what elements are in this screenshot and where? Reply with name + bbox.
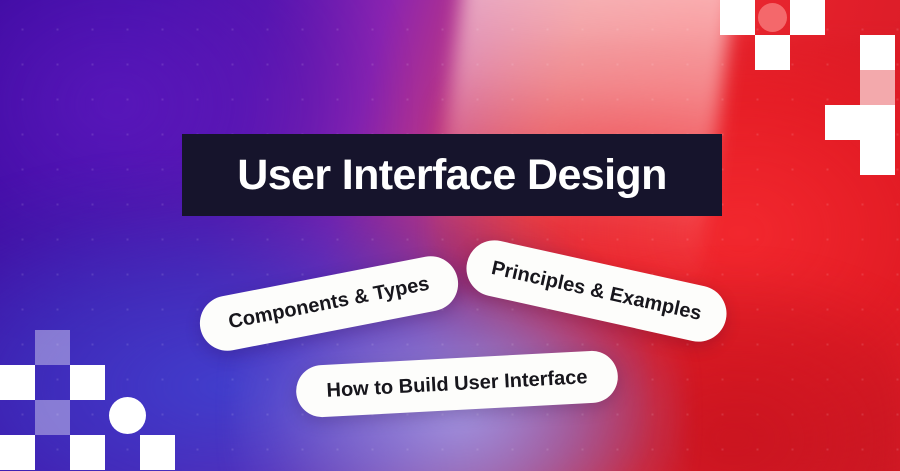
checker-cell	[70, 365, 105, 400]
red-circle-dot	[758, 3, 787, 32]
page-title: User Interface Design	[237, 154, 667, 197]
checker-cell-tinted	[35, 330, 70, 365]
white-circle-dot	[109, 397, 146, 434]
topic-pill-label: How to Build User Interface	[326, 366, 588, 403]
checker-cell	[0, 435, 35, 470]
checker-cell	[860, 35, 895, 70]
checker-cell	[755, 35, 790, 70]
checker-cell	[140, 435, 175, 470]
checker-cell	[0, 365, 35, 400]
checker-cell-tinted	[860, 70, 895, 105]
checker-cell	[825, 105, 860, 140]
checker-cell	[70, 435, 105, 470]
checker-cell	[790, 0, 825, 35]
checker-cell	[860, 105, 895, 140]
checker-cell	[860, 140, 895, 175]
hero-banner-canvas: User Interface Design Components & Types…	[0, 0, 900, 471]
title-banner: User Interface Design	[182, 134, 722, 216]
checker-cell	[720, 0, 755, 35]
checkerboard-bottom-left	[0, 330, 190, 471]
checkerboard-top-right	[720, 0, 900, 185]
checker-cell-tinted	[35, 400, 70, 435]
